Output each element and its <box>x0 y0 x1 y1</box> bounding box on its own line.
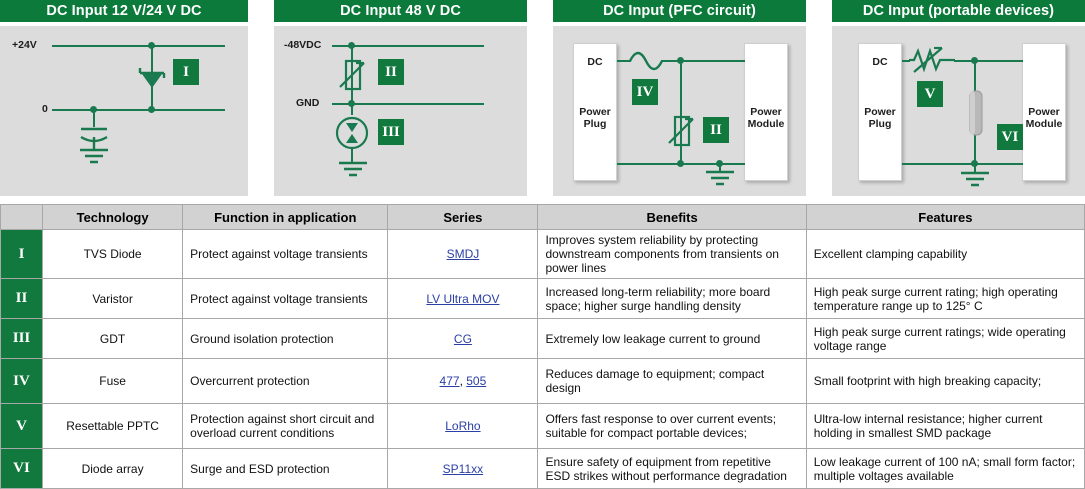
cell-benefits: Improves system reliability by protectin… <box>538 230 806 279</box>
cell-features: Small footprint with high breaking capac… <box>806 359 1084 404</box>
diode-array-icon <box>966 89 986 137</box>
circuit-diagram-panels: DC Input 12 V/24 V DC +24V 0 <box>0 0 1085 200</box>
callout-II: II <box>703 117 729 143</box>
series-link[interactable]: CG <box>454 332 472 346</box>
power-module-label-2: Module <box>1023 118 1065 130</box>
power-plug-dc-label: DC <box>859 56 901 68</box>
cell-function: Surge and ESD protection <box>183 449 388 489</box>
cell-series: CG <box>388 319 538 359</box>
cell-technology: GDT <box>43 319 183 359</box>
power-plug-label-2: Plug <box>574 118 616 130</box>
cell-features: Ultra-low internal resistance; higher cu… <box>806 404 1084 449</box>
cell-series: LV Ultra MOV <box>388 279 538 319</box>
node-bottom <box>148 106 155 113</box>
row-number-badge: I <box>1 230 43 279</box>
cell-benefits: Extremely low leakage current to ground <box>538 319 806 359</box>
series-link[interactable]: SP11xx <box>443 462 483 476</box>
row-number-badge: III <box>1 319 43 359</box>
cell-function: Ground isolation protection <box>183 319 388 359</box>
label-plus-24v: +24V <box>12 39 37 51</box>
cell-technology: Diode array <box>43 449 183 489</box>
cell-features: Low leakage current of 100 nA; small for… <box>806 449 1084 489</box>
wire-bottom-rail <box>52 109 225 111</box>
row-number-badge: VI <box>1 449 43 489</box>
panel-title: DC Input 12 V/24 V DC <box>0 0 248 22</box>
cell-technology: TVS Diode <box>43 230 183 279</box>
panel-dc-input-pfc: DC Input (PFC circuit) DC Power Plug Pow… <box>553 0 806 200</box>
power-plug-block: DC Power Plug <box>858 43 902 181</box>
cell-function: Protect against voltage transients <box>183 279 388 319</box>
series-link[interactable]: 477 <box>440 374 460 388</box>
power-plug-label-1: Power <box>859 106 901 118</box>
wire-top-rail <box>52 45 225 47</box>
panel-schematic: DC Power Plug Power Module <box>832 26 1085 196</box>
panel-dc-input-12v-24v: DC Input 12 V/24 V DC +24V 0 <box>0 0 248 200</box>
cell-benefits: Ensure safety of equipment from repetiti… <box>538 449 806 489</box>
th-technology: Technology <box>43 205 183 230</box>
callout-II: II <box>378 59 404 85</box>
panel-dc-input-48v: DC Input 48 V DC -48VDC GND <box>274 0 527 200</box>
cell-features: High peak surge current ratings; wide op… <box>806 319 1084 359</box>
th-features: Features <box>806 205 1084 230</box>
cell-features: Excellent clamping capability <box>806 230 1084 279</box>
row-number-badge: IV <box>1 359 43 404</box>
cell-function: Protect against voltage transients <box>183 230 388 279</box>
varistor-icon <box>665 112 699 150</box>
label-minus-48vdc: -48VDC <box>284 39 321 51</box>
table-row: IVFuseOvercurrent protection477, 505Redu… <box>1 359 1085 404</box>
cell-series: SP11xx <box>388 449 538 489</box>
th-series: Series <box>388 205 538 230</box>
panel-schematic: DC Power Plug Power Module <box>553 26 806 196</box>
callout-V: V <box>917 81 943 107</box>
panel-title: DC Input 48 V DC <box>274 0 527 22</box>
table-header: Technology Function in application Serie… <box>1 205 1085 230</box>
cell-technology: Varistor <box>43 279 183 319</box>
table-row: VResettable PPTCProtection against short… <box>1 404 1085 449</box>
power-module-label-1: Power <box>1023 106 1065 118</box>
callout-VI: VI <box>997 124 1023 150</box>
ground-icon <box>336 160 370 180</box>
panel-schematic: +24V 0 I <box>0 26 248 196</box>
power-module-label-2: Module <box>745 118 787 130</box>
capacitor-ground-icon <box>74 125 114 171</box>
cell-benefits: Increased long-term reliability; more bo… <box>538 279 806 319</box>
cell-series: LoRho <box>388 404 538 449</box>
panel-title: DC Input (PFC circuit) <box>553 0 806 22</box>
cell-series: 477, 505 <box>388 359 538 404</box>
power-plug-dc-label: DC <box>574 56 616 68</box>
power-module-block: Power Module <box>744 43 788 181</box>
panel-divider-2 <box>527 0 553 200</box>
callout-III: III <box>378 119 404 145</box>
series-link[interactable]: LV Ultra MOV <box>426 292 499 306</box>
node-top <box>148 42 155 49</box>
node-top <box>348 42 355 49</box>
table-row: IIIGDTGround isolation protectionCGExtre… <box>1 319 1085 359</box>
power-module-block: Power Module <box>1022 43 1066 181</box>
power-plug-block: DC Power Plug <box>573 43 617 181</box>
wire-top-right <box>954 60 1023 62</box>
tvs-diode-icon <box>136 64 170 90</box>
row-number-badge: II <box>1 279 43 319</box>
panel-divider-3 <box>806 0 832 200</box>
power-module-label-1: Power <box>745 106 787 118</box>
row-number-badge: V <box>1 404 43 449</box>
ground-icon <box>959 170 991 190</box>
varistor-icon <box>336 56 370 94</box>
table-row: VIDiode arraySurge and ESD protectionSP1… <box>1 449 1085 489</box>
callout-IV: IV <box>632 79 658 105</box>
label-gnd: GND <box>296 97 319 109</box>
series-link[interactable]: 505 <box>466 374 486 388</box>
gdt-icon <box>332 113 372 153</box>
cell-benefits: Reduces damage to equipment; compact des… <box>538 359 806 404</box>
callout-I: I <box>173 59 199 85</box>
series-link[interactable]: SMDJ <box>447 247 480 261</box>
table-header-row: Technology Function in application Serie… <box>1 205 1085 230</box>
ground-icon <box>704 169 736 189</box>
th-benefits: Benefits <box>538 205 806 230</box>
wire-top-right <box>661 60 745 62</box>
cell-technology: Resettable PPTC <box>43 404 183 449</box>
cell-benefits: Offers fast response to over current eve… <box>538 404 806 449</box>
table-body: ITVS DiodeProtect against voltage transi… <box>1 230 1085 489</box>
th-number <box>1 205 43 230</box>
technology-table-container: Technology Function in application Serie… <box>0 204 1085 485</box>
panel-schematic: -48VDC GND II <box>274 26 527 196</box>
series-link[interactable]: LoRho <box>445 419 480 433</box>
power-plug-label-1: Power <box>574 106 616 118</box>
cell-series: SMDJ <box>388 230 538 279</box>
label-zero: 0 <box>42 103 48 115</box>
th-function: Function in application <box>183 205 388 230</box>
cell-function: Protection against short circuit and ove… <box>183 404 388 449</box>
panel-divider-1 <box>248 0 274 200</box>
table-row: IIVaristorProtect against voltage transi… <box>1 279 1085 319</box>
technology-table: Technology Function in application Serie… <box>0 204 1085 489</box>
panel-title: DC Input (portable devices) <box>832 0 1085 22</box>
cell-function: Overcurrent protection <box>183 359 388 404</box>
table-row: ITVS DiodeProtect against voltage transi… <box>1 230 1085 279</box>
cell-features: High peak surge current rating; high ope… <box>806 279 1084 319</box>
pptc-icon <box>908 44 956 76</box>
wire-bottom-rail <box>902 163 1023 165</box>
panel-dc-input-portable: DC Input (portable devices) DC Power Plu… <box>832 0 1085 200</box>
cell-technology: Fuse <box>43 359 183 404</box>
power-plug-label-2: Plug <box>859 118 901 130</box>
fuse-icon <box>629 48 663 72</box>
